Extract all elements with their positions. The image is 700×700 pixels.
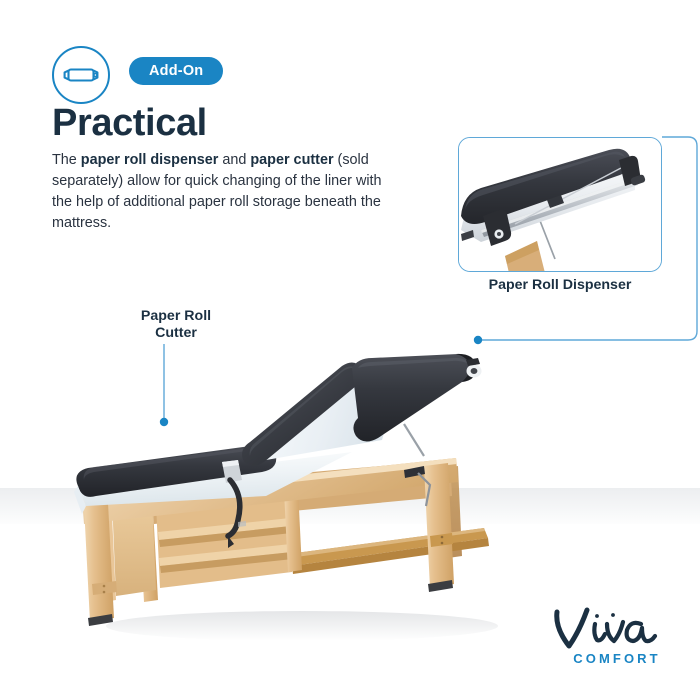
dispenser-inset-image: [459, 138, 662, 272]
body-bold-cutter: paper cutter: [250, 152, 333, 168]
brand-logo-word: [545, 606, 675, 652]
body-bold-dispenser: paper roll dispenser: [81, 152, 219, 168]
body-description: The paper roll dispenser and paper cutte…: [52, 150, 392, 234]
cutter-callout-label: Paper Roll Cutter: [112, 308, 240, 343]
brand-logo: COMFORT: [545, 606, 675, 672]
body-text-pre: The: [52, 152, 81, 168]
cutter-label-line1: Paper Roll: [112, 308, 240, 325]
brand-logo-subtitle: COMFORT: [545, 651, 675, 666]
dispenser-caption: Paper Roll Dispenser: [458, 277, 662, 293]
body-text-mid: and: [218, 152, 250, 168]
dispenser-inset-panel: [458, 137, 662, 272]
cutter-label-line2: Cutter: [112, 325, 240, 342]
page-title: Practical: [52, 104, 207, 142]
add-on-badge: Add-On: [129, 57, 223, 85]
dispenser-caption-text: Paper Roll Dispenser: [489, 277, 632, 293]
add-on-badge-label: Add-On: [149, 63, 203, 79]
infographic-canvas: Add-On Practical The paper roll dispense…: [0, 0, 700, 700]
paper-roll-icon: [52, 46, 110, 104]
floor-horizon: [0, 488, 700, 528]
